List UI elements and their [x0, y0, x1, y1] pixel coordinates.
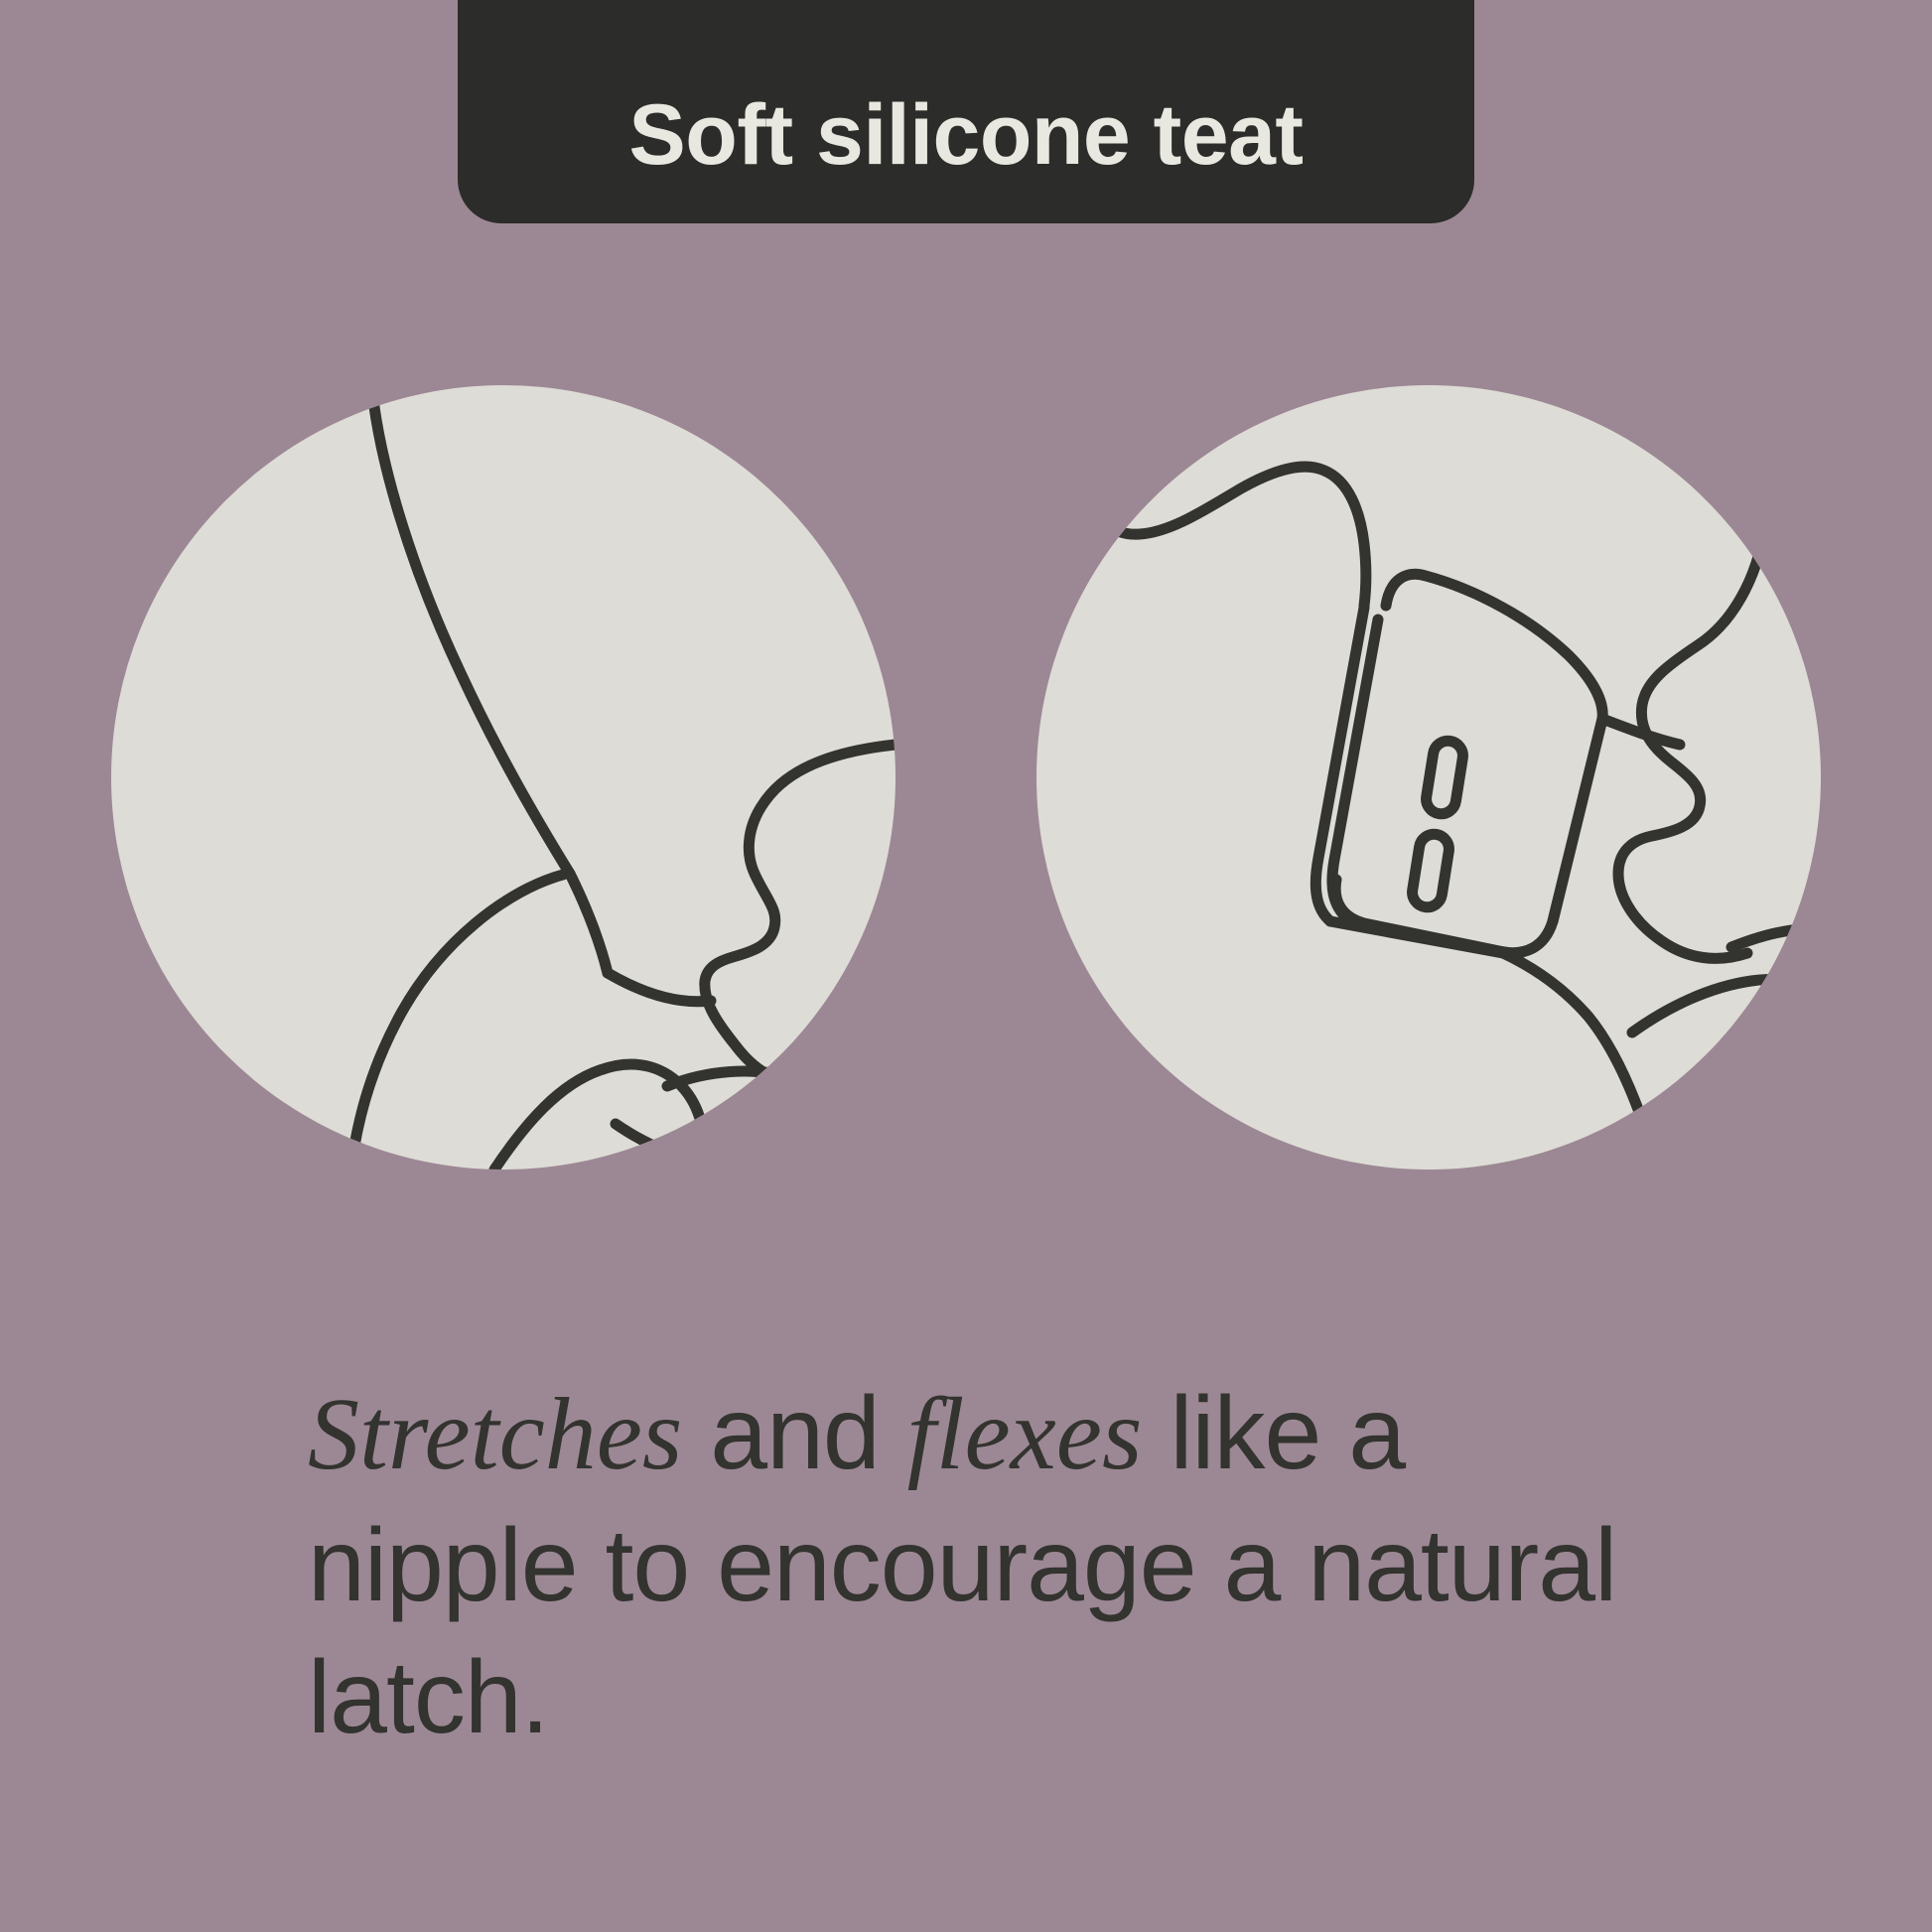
- caption-emphasis-flexes: flexes: [907, 1377, 1143, 1491]
- bottle-teat-line-art: [1036, 385, 1821, 1170]
- page-title: Soft silicone teat: [628, 92, 1303, 178]
- caption-emphasis-stretches: Stretches: [308, 1377, 682, 1491]
- illustration-row: [0, 385, 1932, 1189]
- title-banner: Soft silicone teat: [458, 0, 1474, 223]
- caption-plain-and: and: [682, 1376, 906, 1491]
- breast-latch-illustration: [111, 385, 896, 1170]
- bottle-teat-latch-illustration: [1036, 385, 1821, 1170]
- caption-text: Stretches and flexes like a nipple to en…: [308, 1368, 1638, 1764]
- breast-latch-line-art: [111, 385, 896, 1170]
